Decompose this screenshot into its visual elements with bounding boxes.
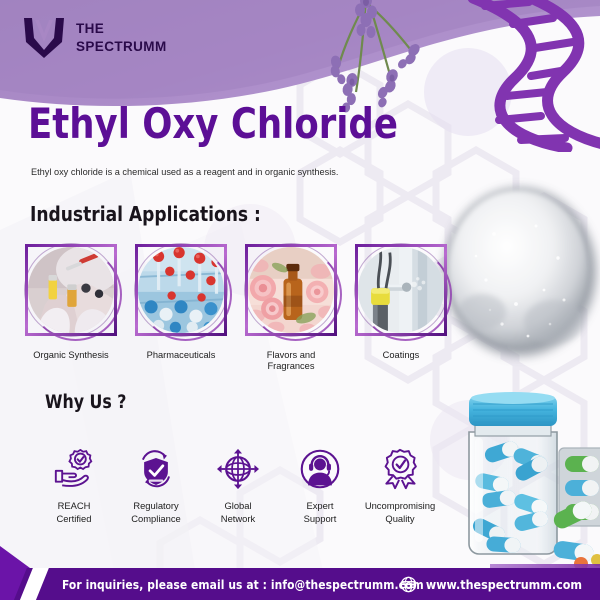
dna-helix-icon [455,0,600,152]
application-label: Pharmaceuticals [132,350,230,361]
application-item: Organic Synthesis [22,244,120,361]
application-item: Pharmaceuticals [132,244,230,361]
application-image-ring [355,244,447,336]
feature-item: Uncompromising Quality [352,446,448,525]
applications-heading: Industrial Applications : [30,202,261,226]
brand-name-line2: SPECTRUMM [76,38,167,56]
application-label: Organic Synthesis [22,350,120,361]
pill-jar-with-capsules-photo [447,388,600,573]
footer-bar: For inquiries, please email us at : info… [0,568,600,600]
page-subtitle: Ethyl oxy chloride is a chemical used as… [31,167,338,177]
pharma-molecular-models-photo[interactable] [135,244,227,336]
why-us-heading: Why Us ? [45,392,126,413]
infographic-poster: THE SPECTRUMM [0,0,600,600]
feature-label: Uncompromising Quality [352,500,448,525]
brand-name: THE SPECTRUMM [76,20,167,56]
perfume-bottle-roses-photo[interactable] [245,244,337,336]
footer-website-text: www.thespectrumm.com [426,577,582,592]
application-label: Flavors and Fragrances [242,350,340,371]
application-item: Flavors and Fragrances [242,244,340,371]
page-title: Ethyl Oxy Chloride [28,103,398,145]
lab-scientist-vials-photo[interactable] [25,244,117,336]
application-item: Coatings [352,244,450,361]
applications-list: Organic Synthesis [0,244,455,364]
application-image-ring [245,244,337,336]
industrial-spray-coating-photo[interactable] [355,244,447,336]
footer-email[interactable]: For inquiries, please email us at : info… [62,568,424,600]
globe-icon [400,576,417,593]
application-image-ring [135,244,227,336]
brand-logo: THE SPECTRUMM [22,16,167,60]
white-crystalline-powder-photo [432,172,600,372]
award-ribbon-check-icon [352,446,448,492]
footer-website-group[interactable]: www.thespectrumm.com [400,568,582,600]
application-label: Coatings [352,350,450,361]
why-us-list: REACH Certified Regulatory Compliance [0,446,462,556]
application-image-ring [25,244,117,336]
brand-name-line1: THE [76,20,167,38]
w-monogram-logo-icon [22,16,68,60]
